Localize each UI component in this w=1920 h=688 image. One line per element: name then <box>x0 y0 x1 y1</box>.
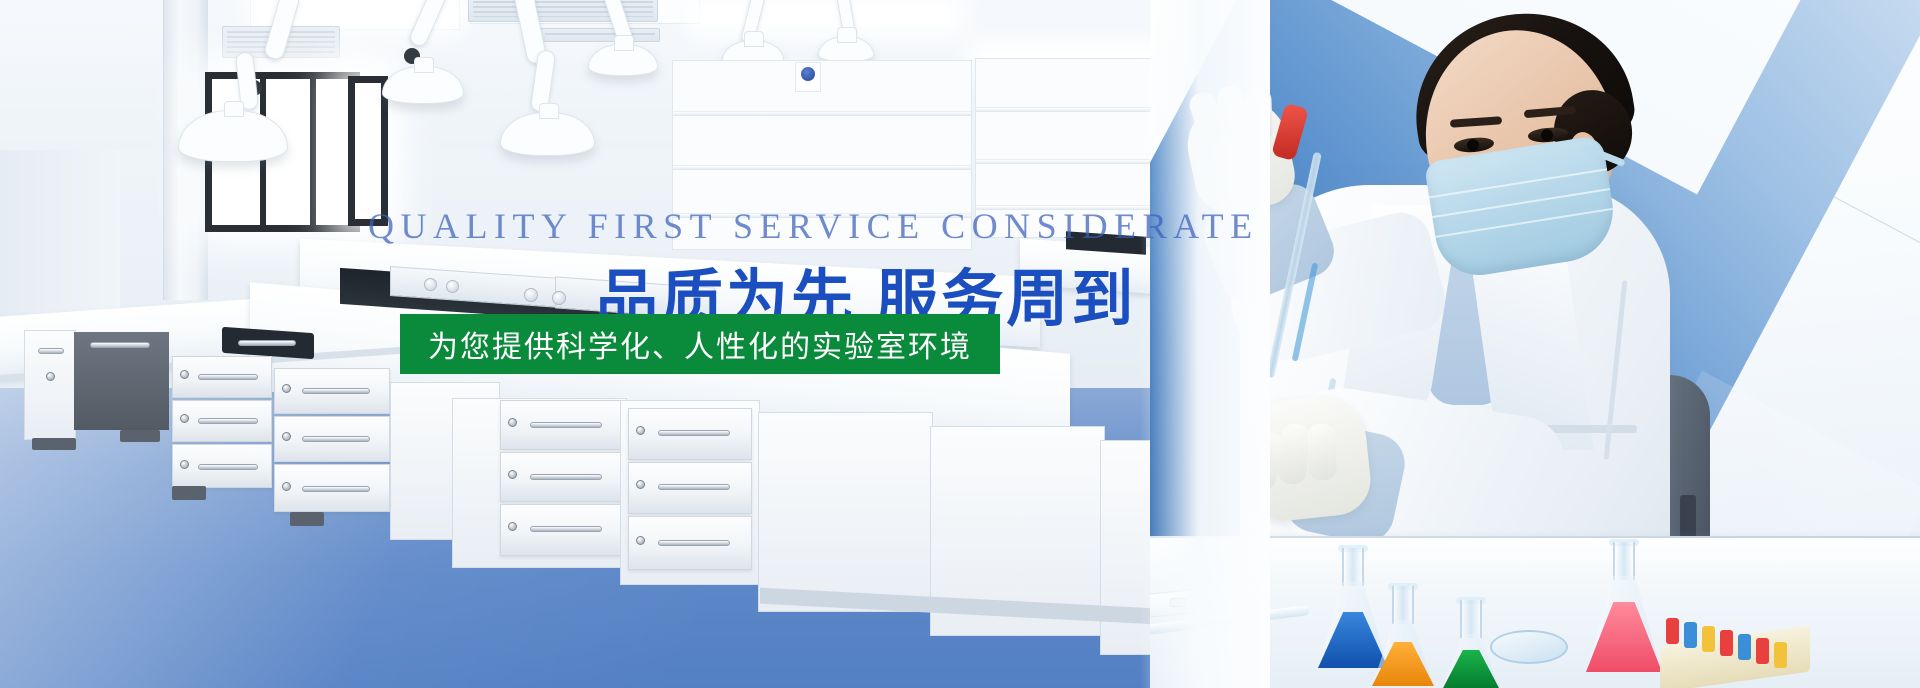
text-overlay: QUALITY FIRST SERVICE CONSIDERATE 品质为先 服… <box>0 0 1920 688</box>
subtitle-green-bar: 为您提供科学化、人性化的实验室环境 <box>400 314 1000 374</box>
subtitle-text: 为您提供科学化、人性化的实验室环境 <box>428 322 972 366</box>
hero-banner: QUALITY FIRST SERVICE CONSIDERATE 品质为先 服… <box>0 0 1920 688</box>
english-tagline: QUALITY FIRST SERVICE CONSIDERATE <box>368 205 1259 247</box>
